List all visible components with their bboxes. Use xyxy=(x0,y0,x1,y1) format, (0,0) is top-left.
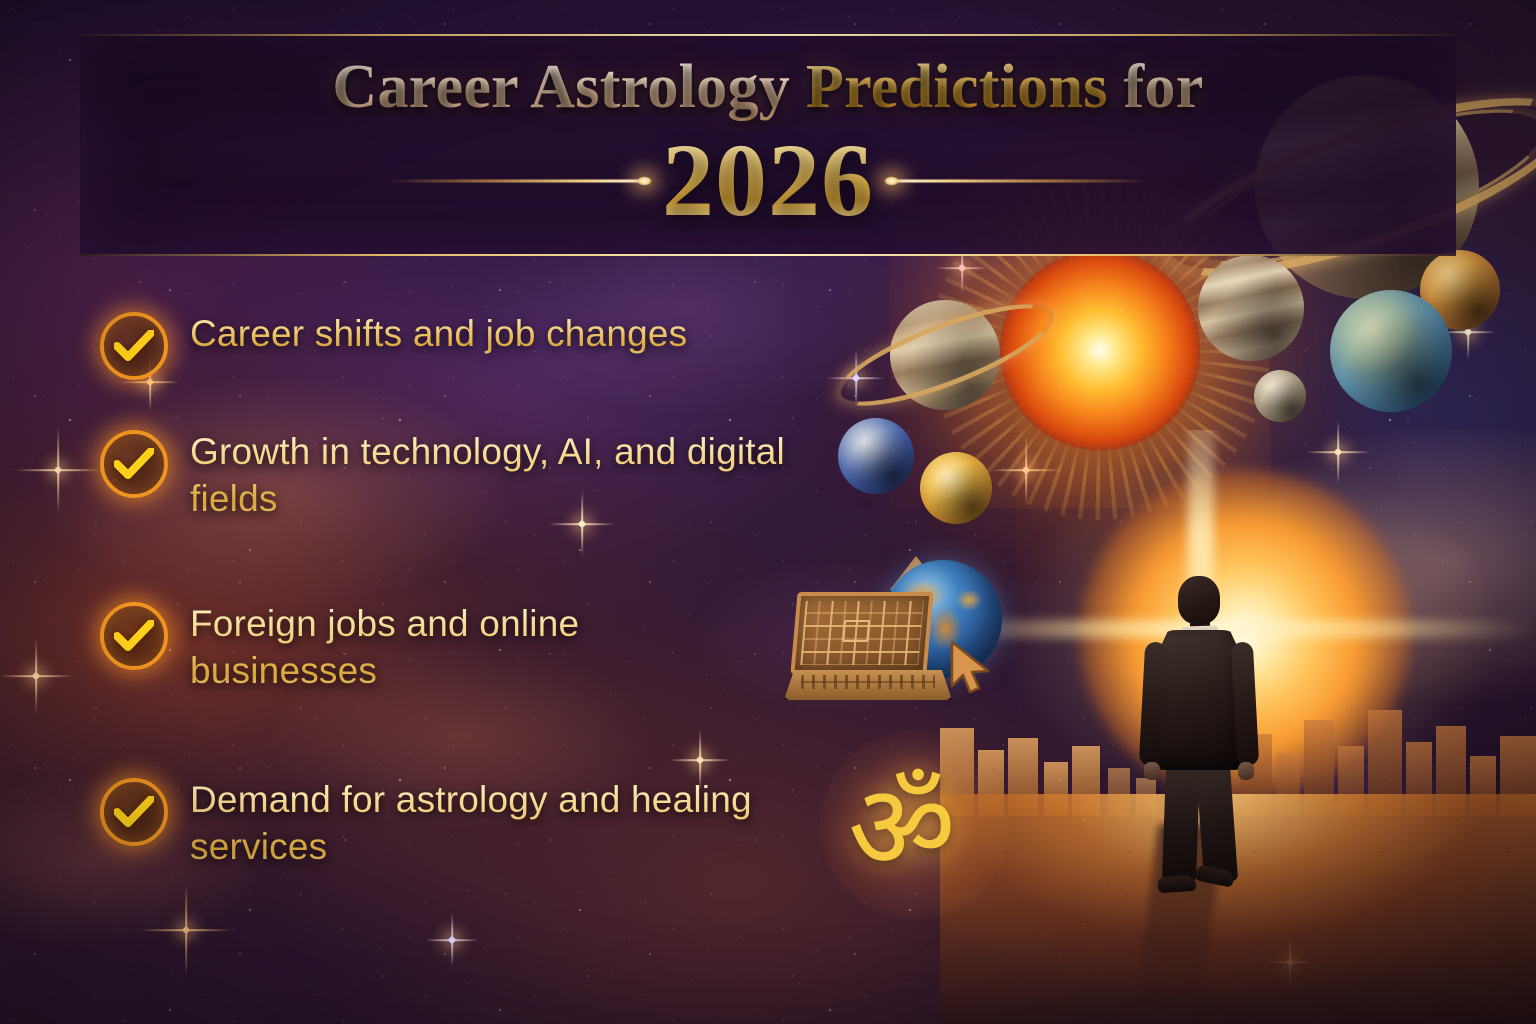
cursor-glyph xyxy=(948,640,994,696)
list-item-label: Career shifts and job changes xyxy=(190,310,687,357)
planet-texture xyxy=(1330,290,1452,412)
year-row: 2026 xyxy=(80,126,1456,236)
teal-planet xyxy=(1330,290,1452,412)
light-streak-right xyxy=(890,178,1150,184)
laptop-screen xyxy=(790,592,933,674)
year-heading: 2026 xyxy=(646,129,890,233)
sun-specks xyxy=(1016,266,1184,434)
check-glyph xyxy=(114,796,154,828)
exploding-star-sun xyxy=(1000,250,1200,450)
streak-line xyxy=(890,180,1150,183)
list-item[interactable]: Demand for astrology and healing service… xyxy=(100,776,770,871)
check-glyph xyxy=(114,330,154,362)
check-glyph xyxy=(114,448,154,480)
list-item[interactable]: Foreign jobs and online businesses xyxy=(100,600,610,695)
om-icon: ॐ xyxy=(848,768,956,886)
head xyxy=(1178,576,1220,624)
hand-left xyxy=(1144,762,1160,780)
light-streak-left xyxy=(386,178,646,184)
blue-speckled-planet xyxy=(838,418,914,494)
planet-texture xyxy=(1198,255,1304,361)
striped-gas-giant-planet xyxy=(1198,255,1304,361)
chip-icon xyxy=(842,620,870,642)
shoe-left xyxy=(1157,875,1196,894)
list-item[interactable]: Growth in technology, AI, and digital fi… xyxy=(100,428,840,523)
leg-left xyxy=(1162,763,1200,882)
planet-texture xyxy=(1254,370,1306,422)
laptop-keyboard xyxy=(784,670,952,700)
saturn-planet-small xyxy=(890,300,1000,410)
streak-line xyxy=(386,180,646,183)
streak-glow-dot xyxy=(636,176,652,186)
businessman-walking-silhouette xyxy=(1136,576,1262,906)
businessman-city-scene xyxy=(940,430,1536,1024)
list-item-label: Growth in technology, AI, and digital fi… xyxy=(190,428,840,523)
check-icon xyxy=(100,778,168,846)
title-part-predictions: Predictions xyxy=(806,53,1108,121)
laptop-circuit-icon xyxy=(784,592,952,704)
check-icon xyxy=(100,430,168,498)
title-part-career-astrology: Career Astrology xyxy=(332,53,805,121)
list-item-label: Foreign jobs and online businesses xyxy=(190,600,610,695)
streak-glow-dot xyxy=(884,176,900,186)
check-glyph xyxy=(114,620,154,652)
hand-right xyxy=(1238,762,1254,780)
title-part-for: for xyxy=(1108,53,1204,121)
list-item-label: Demand for astrology and healing service… xyxy=(190,776,770,871)
planet-texture xyxy=(838,418,914,494)
check-icon xyxy=(100,602,168,670)
list-item[interactable]: Career shifts and job changes xyxy=(100,310,687,380)
page-title: Career Astrology Predictions for xyxy=(80,52,1456,123)
poster-canvas: Career Astrology Predictions for 2026 Ca… xyxy=(0,0,1536,1024)
technology-globe-graphic xyxy=(780,552,1010,712)
check-icon xyxy=(100,312,168,380)
keyboard-keys xyxy=(801,675,935,689)
circuit-pattern xyxy=(800,601,924,665)
grey-moon xyxy=(1254,370,1306,422)
